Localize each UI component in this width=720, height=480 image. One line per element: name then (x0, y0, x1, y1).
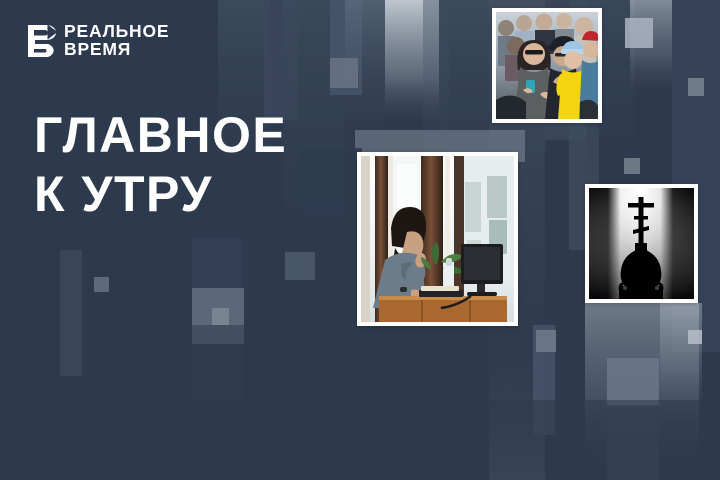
headline-line-1: ГЛАВНОЕ (34, 106, 287, 165)
b-flag-logomark-icon (27, 24, 57, 57)
office-photo[interactable] (357, 152, 518, 326)
promo-banner: РЕАЛЬНОЕ ВРЕМЯ ГЛАВНОЕ К УТРУ (0, 0, 720, 480)
headline-line-2: К УТРУ (34, 165, 287, 224)
church-dome-photo-image (589, 188, 694, 299)
office-photo-image (361, 156, 514, 322)
logo-line-2: ВРЕМЯ (64, 40, 169, 58)
logo-line-1: РЕАЛЬНОЕ (64, 22, 169, 40)
church-dome-photo[interactable] (585, 184, 698, 303)
logo[interactable]: РЕАЛЬНОЕ ВРЕМЯ (27, 22, 169, 58)
logo-wordmark: РЕАЛЬНОЕ ВРЕМЯ (64, 22, 169, 58)
headline: ГЛАВНОЕ К УТРУ (34, 106, 287, 224)
crowd-photo-image (496, 12, 598, 119)
crowd-photo[interactable] (492, 8, 602, 123)
